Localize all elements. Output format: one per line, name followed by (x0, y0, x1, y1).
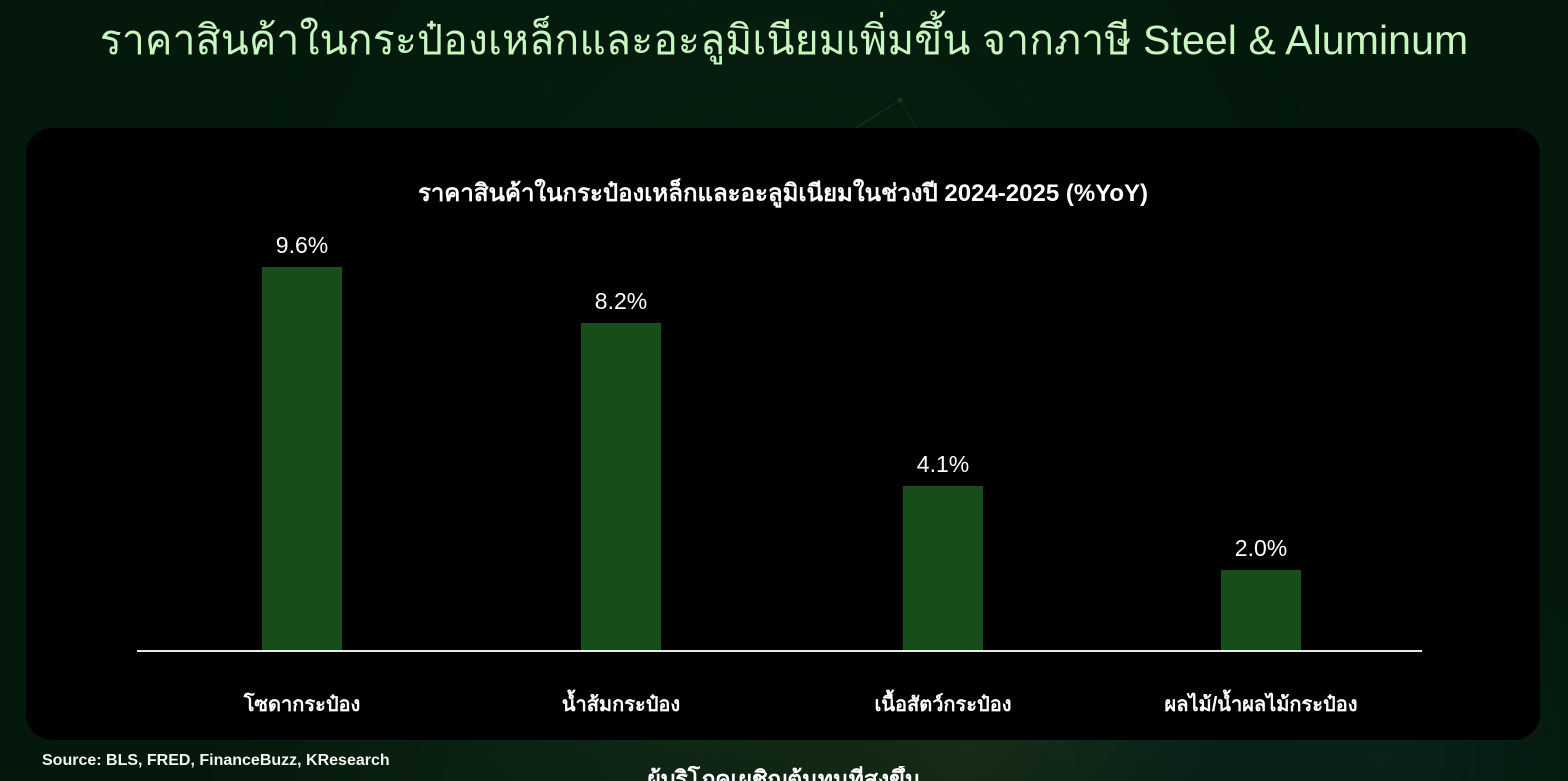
bar-category-label-2: น้ำส้มกระป๋อง (446, 688, 796, 720)
slide-canvas: ราคาสินค้าในกระป๋องเหล็กและอะลูมิเนียมเพ… (0, 0, 1568, 781)
bar-category-label-1: โซดากระป๋อง (127, 688, 477, 720)
chart-panel: ราคาสินค้าในกระป๋องเหล็กและอะลูมิเนียมใน… (26, 128, 1540, 740)
bar-value-label-4: 2.0% (1161, 535, 1361, 562)
bar-value-label-3: 4.1% (843, 451, 1043, 478)
bar-1[interactable] (262, 267, 342, 650)
bar-category-label-3: เนื้อสัตว์กระป๋อง (768, 688, 1118, 720)
bar-value-label-1: 9.6% (202, 232, 402, 259)
bottom-caption-clipped: ผู้บริโภคเผชิญต้นทุนที่สูงขึ้น (0, 766, 1568, 781)
page-title: ราคาสินค้าในกระป๋องเหล็กและอะลูมิเนียมเพ… (0, 8, 1568, 72)
x-axis-line (137, 650, 1422, 652)
bar-2[interactable] (581, 323, 661, 650)
bar-category-label-4: ผลไม้/น้ำผลไม้กระป๋อง (1086, 688, 1436, 720)
bar-3[interactable] (903, 486, 983, 650)
chart-plot-area: 9.6% โซดากระป๋อง 8.2% น้ำส้มกระป๋อง 4.1%… (26, 128, 1540, 740)
bar-4[interactable] (1221, 570, 1301, 650)
bar-value-label-2: 8.2% (521, 288, 721, 315)
